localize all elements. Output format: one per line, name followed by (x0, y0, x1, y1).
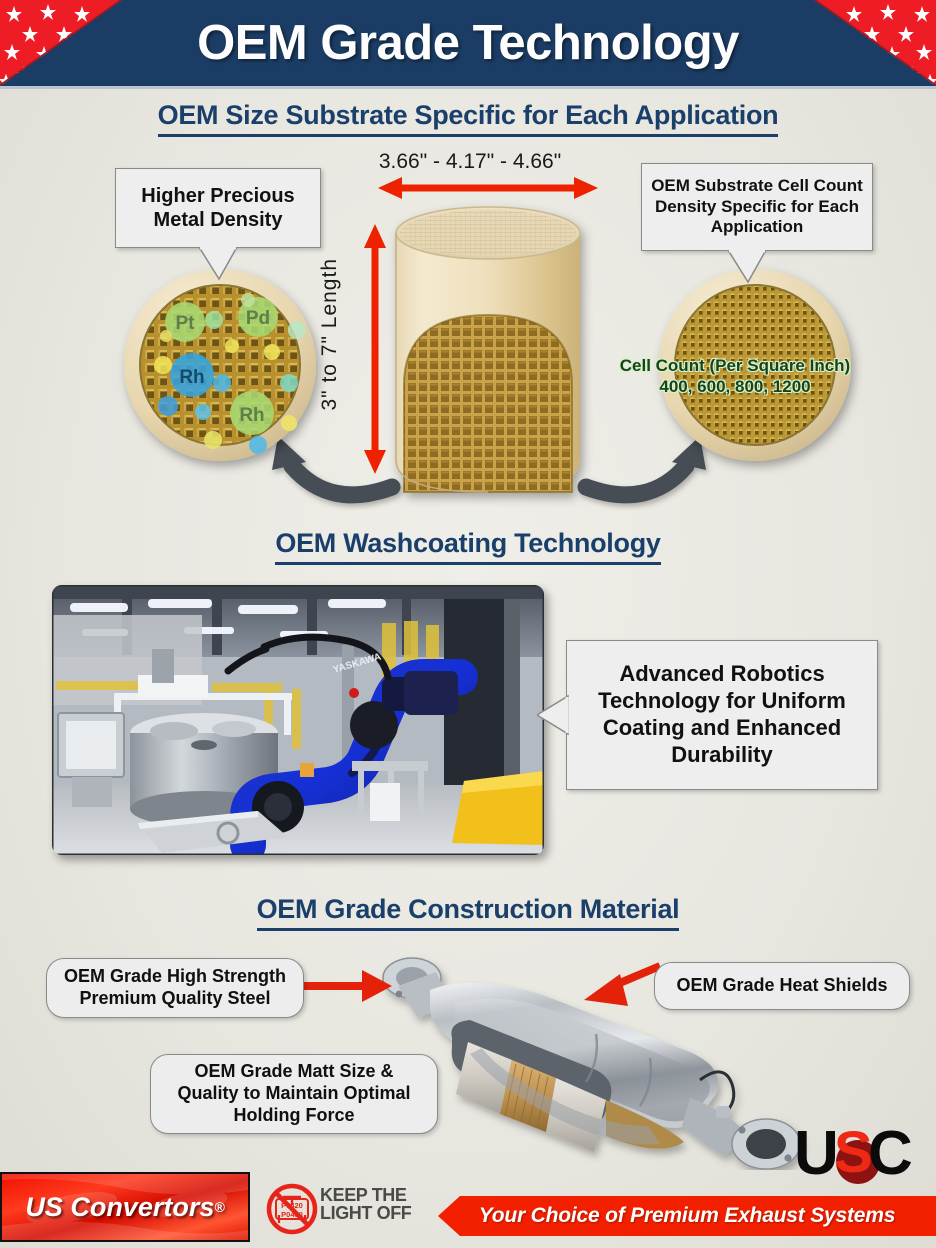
usc-logo-s: S (834, 1120, 873, 1184)
section-heading-washcoating: OEM Washcoating Technology (0, 528, 936, 565)
length-dimension-arrow (364, 224, 386, 474)
no-symbol-icon: P0420 P0430 (269, 1186, 315, 1232)
section-heading-washcoating-text: OEM Washcoating Technology (275, 528, 660, 565)
page-header: OEM Grade Technology (0, 0, 936, 86)
page-title: OEM Grade Technology (0, 0, 936, 86)
brand-registered-mark: ® (214, 1199, 224, 1215)
cell-count-title: Cell Count (Per Square Inch) (600, 355, 870, 376)
metal-label-pd: Pd (246, 308, 270, 329)
robotics-photo: YASKAWA (52, 585, 544, 855)
section-heading-construction-text: OEM Grade Construction Material (257, 894, 680, 931)
keep-light-line1: KEEP THE (320, 1186, 440, 1204)
section-heading-substrate-text: OEM Size Substrate Specific for Each App… (158, 100, 779, 137)
callout-matt-size-text: OEM Grade Matt Size & Quality to Maintai… (163, 1061, 425, 1127)
callout-heat-shields: OEM Grade Heat Shields (654, 962, 910, 1010)
usc-logo-u: U (794, 1119, 839, 1184)
metal-label-rh1: Rh (179, 367, 204, 388)
metal-label-pt: Pt (176, 313, 196, 334)
footer-tagline-text: Your Choice of Premium Exhaust Systems (479, 1204, 895, 1228)
keep-light-off-text: KEEP THE LIGHT OFF (320, 1186, 440, 1223)
section-heading-substrate: OEM Size Substrate Specific for Each App… (0, 100, 936, 137)
brand-name: US Convertors® (2, 1174, 248, 1240)
callout-advanced-robotics: Advanced Robotics Technology for Uniform… (566, 640, 878, 790)
arrow-to-heat-shields (584, 966, 660, 1006)
cell-count-values: 400, 600, 800, 1200 (600, 376, 870, 397)
callout-matt-size: OEM Grade Matt Size & Quality to Maintai… (150, 1054, 438, 1134)
substrate-cylinder (396, 207, 580, 492)
section-heading-construction: OEM Grade Construction Material (0, 894, 936, 931)
header-rule (0, 86, 936, 89)
keep-light-line2: LIGHT OFF (320, 1204, 440, 1222)
callout-high-strength-steel-text: OEM Grade High Strength Premium Quality … (59, 966, 291, 1010)
length-dimension-label: 3" to 7" Length (318, 258, 352, 411)
callout-advanced-robotics-text: Advanced Robotics Technology for Uniform… (576, 661, 868, 768)
callout-tail-robotics (537, 690, 569, 740)
callout-heat-shields-text: OEM Grade Heat Shields (676, 975, 887, 997)
footer-tagline: Your Choice of Premium Exhaust Systems (438, 1196, 936, 1236)
usc-logo-c: C (868, 1119, 913, 1184)
callout-precious-metal-density-text: Higher Precious Metal Density (125, 184, 311, 233)
brand-name-text: US Convertors (25, 1192, 214, 1223)
width-dimension-label: 3.66" - 4.17" - 4.66" (330, 150, 610, 174)
callout-tail-left (193, 247, 243, 281)
callout-cell-count-density: OEM Substrate Cell Count Density Specifi… (641, 163, 873, 251)
infographic-page: OEM Grade Technology (0, 0, 936, 1248)
precious-metal-magnifier: Pt Pd Rh Rh (124, 269, 316, 461)
brand-logo-box[interactable]: US Convertors® (0, 1172, 250, 1242)
cell-count-overlay: Cell Count (Per Square Inch) 400, 600, 8… (600, 355, 870, 398)
callout-precious-metal-density: Higher Precious Metal Density (115, 168, 321, 248)
usc-logo[interactable]: U S C (792, 1118, 924, 1184)
width-dimension-arrow (378, 177, 598, 199)
arrow-to-steel (300, 970, 392, 1002)
callout-high-strength-steel: OEM Grade High Strength Premium Quality … (46, 958, 304, 1018)
callout-cell-count-density-text: OEM Substrate Cell Count Density Specifi… (651, 176, 863, 238)
metal-label-rh2: Rh (239, 405, 264, 426)
callout-tail-right (722, 250, 772, 284)
curved-arrow-right (586, 436, 706, 495)
